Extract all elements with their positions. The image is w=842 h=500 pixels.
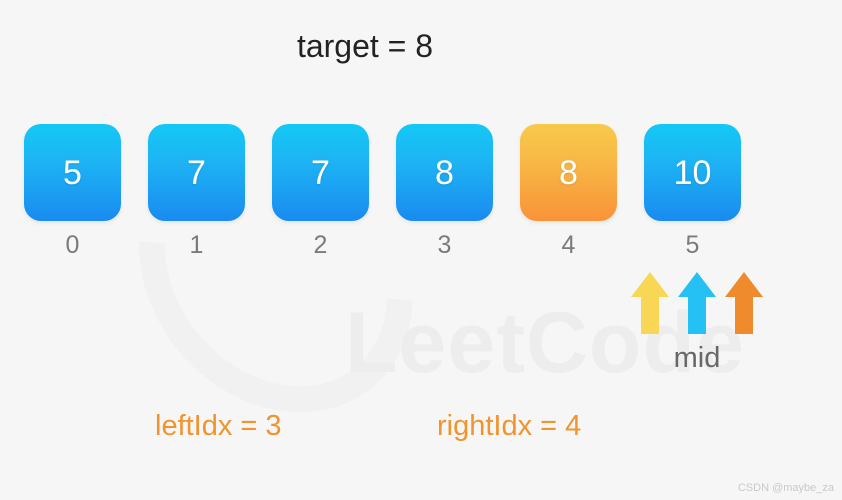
array-cell[interactable]: 7 [272, 124, 369, 221]
array-cell[interactable]: 8 [396, 124, 493, 221]
right-index-label: rightIdx = 4 [437, 412, 581, 441]
page-title: target = 8 [0, 28, 730, 65]
array-index-label: 2 [272, 230, 369, 260]
array-cell-value: 8 [435, 156, 454, 190]
array-cell-value: 7 [311, 156, 330, 190]
credit-watermark: CSDN @maybe_za [738, 482, 834, 494]
array-index-label: 4 [520, 230, 617, 260]
array-cell-value: 5 [63, 156, 82, 190]
index-row: 012345 [24, 230, 740, 262]
array-cell-value: 8 [559, 156, 578, 190]
array-row: 5778810 [24, 124, 740, 222]
right-arrow-icon [724, 271, 764, 335]
array-index-label: 1 [148, 230, 245, 260]
array-cell[interactable]: 5 [24, 124, 121, 221]
array-cell[interactable]: 10 [644, 124, 741, 221]
array-index-label: 3 [396, 230, 493, 260]
visualization-canvas: LeetCode target = 8 5778810 012345 mid l… [0, 0, 842, 500]
mid-pointer-label: mid [632, 342, 762, 375]
left-arrow-icon [630, 271, 670, 335]
array-cell[interactable]: 8 [520, 124, 617, 221]
array-cell-value: 10 [674, 156, 712, 190]
array-index-label: 0 [24, 230, 121, 260]
left-index-label: leftIdx = 3 [155, 412, 282, 441]
array-cell-value: 7 [187, 156, 206, 190]
mid-arrow-icon [677, 271, 717, 335]
array-index-label: 5 [644, 230, 741, 260]
array-cell[interactable]: 7 [148, 124, 245, 221]
pointer-arrow-group [630, 271, 764, 337]
